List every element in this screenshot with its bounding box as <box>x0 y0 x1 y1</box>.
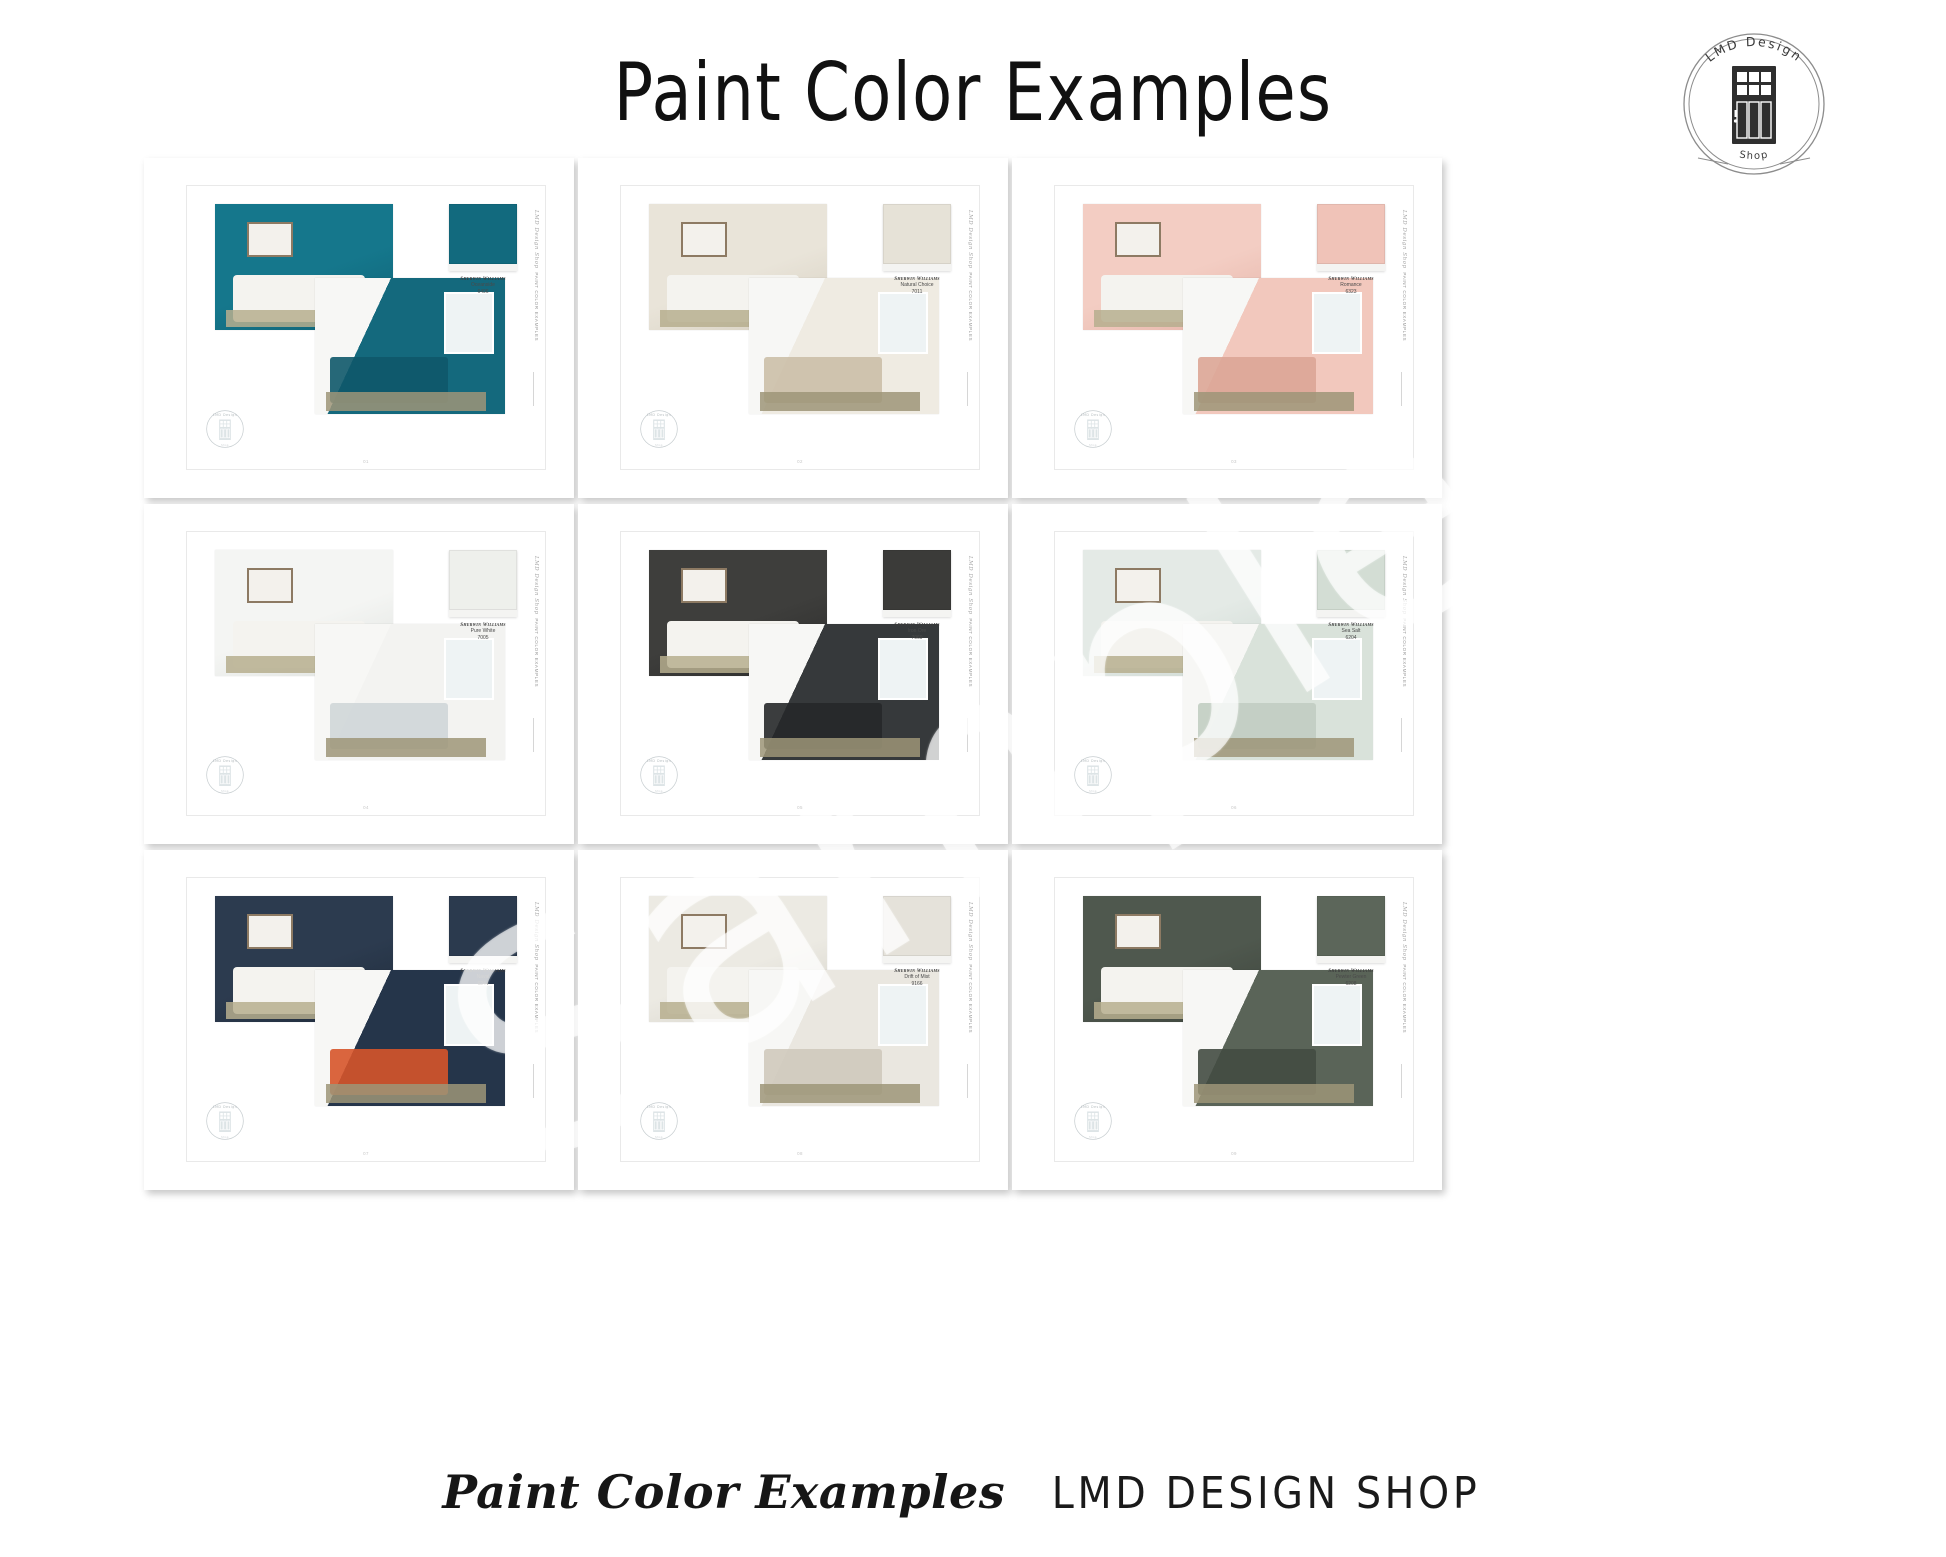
paint-swatch: Sherwin Williams Naval 6244 <box>447 896 519 988</box>
paint-card-grid: Sherwin Williams Oceanside 6496 LMD Desi… <box>144 158 1804 1190</box>
svg-text:LMD Design: LMD Design <box>1081 759 1105 763</box>
card-page-number: 02 <box>797 459 803 464</box>
svg-text:LMD Design: LMD Design <box>213 413 237 417</box>
card-side-text: LMD Design Shop PAINT COLOR EXAMPLES <box>1395 902 1407 1052</box>
swatch-color-chip <box>1317 896 1385 956</box>
svg-text:LMD Design: LMD Design <box>647 413 671 417</box>
swatch-color-chip <box>883 204 951 264</box>
card-lmd-logo: LMD Design Shop <box>1071 407 1115 451</box>
swatch-color-name: Natural Choice <box>881 282 953 289</box>
footer-brand-text: LMD DESIGN SHOP <box>1051 1468 1479 1519</box>
dark-cabinet-laundry-room <box>749 624 939 760</box>
svg-text:Shop: Shop <box>655 443 663 447</box>
logo-top-text: LMD Design <box>1702 34 1805 65</box>
card-page-number: 07 <box>363 1151 369 1156</box>
card-lmd-logo: LMD Design Shop <box>637 1099 681 1143</box>
card-lmd-logo: LMD Design Shop <box>637 407 681 451</box>
swatch-color-code: 6244 <box>447 981 519 988</box>
card-side-text: LMD Design Shop PAINT COLOR EXAMPLES <box>961 902 973 1052</box>
swatch-color-chip <box>883 550 951 610</box>
svg-text:LMD Design: LMD Design <box>647 1105 671 1109</box>
navy-living-room-with-orange-chairs <box>315 970 505 1106</box>
swatch-color-chip <box>1317 204 1385 264</box>
svg-text:Shop: Shop <box>221 443 229 447</box>
svg-text:LMD Design: LMD Design <box>1081 413 1105 417</box>
sage-living-room-with-fireplace-built-ins <box>1183 624 1373 760</box>
swatch-color-name: Romance <box>1315 282 1387 289</box>
card-inner-frame: Sherwin Williams Oceanside 6496 LMD Desi… <box>186 185 546 470</box>
card-page-number: 04 <box>363 805 369 810</box>
card-inner-frame: Sherwin Williams Iron Ore 7069 LMD Desig… <box>620 531 980 816</box>
swatch-color-name: Naval <box>447 974 519 981</box>
svg-text:Shop: Shop <box>1089 443 1097 447</box>
card-page-number: 08 <box>797 1151 803 1156</box>
card-side-text: LMD Design Shop PAINT COLOR EXAMPLES <box>527 556 539 706</box>
swatch-color-code: 7011 <box>881 289 953 296</box>
svg-text:LMD Design: LMD Design <box>213 759 237 763</box>
page-title: Paint Color Examples <box>175 46 1771 139</box>
swatch-color-code: 6208 <box>1315 981 1387 988</box>
paint-card[interactable]: Sherwin Williams Pewter Green 6208 LMD D… <box>1012 850 1442 1190</box>
swatch-color-code: 9166 <box>881 981 953 988</box>
card-side-text: LMD Design Shop PAINT COLOR EXAMPLES <box>1395 556 1407 706</box>
svg-text:LMD Design: LMD Design <box>647 759 671 763</box>
card-inner-frame: Sherwin Williams Sea Salt 6204 LMD Desig… <box>1054 531 1414 816</box>
paint-card[interactable]: Sherwin Williams Drift of Mist 9166 LMD … <box>578 850 1008 1190</box>
card-side-text: LMD Design Shop PAINT COLOR EXAMPLES <box>527 902 539 1052</box>
card-page-number: 05 <box>797 805 803 810</box>
paint-swatch: Sherwin Williams Romance 6323 <box>1315 204 1387 296</box>
swatch-color-code: 6323 <box>1315 289 1387 296</box>
card-lmd-logo: LMD Design Shop <box>203 407 247 451</box>
card-inner-frame: Sherwin Williams Naval 6244 LMD Design S… <box>186 877 546 1162</box>
footer: Paint Color Examples LMD DESIGN SHOP <box>0 1465 1946 1519</box>
swatch-card-base <box>883 956 951 963</box>
white-entryway-with-front-door <box>749 278 939 414</box>
paint-swatch: Sherwin Williams Natural Choice 7011 <box>881 204 953 296</box>
card-page-number: 03 <box>1231 459 1237 464</box>
svg-text:Shop: Shop <box>1089 789 1097 793</box>
card-side-rule <box>967 1064 968 1098</box>
paint-swatch: Sherwin Williams Iron Ore 7069 <box>881 550 953 642</box>
card-side-text: LMD Design Shop PAINT COLOR EXAMPLES <box>961 556 973 706</box>
swatch-card-base <box>1317 264 1385 271</box>
paint-swatch: Sherwin Williams Oceanside 6496 <box>447 204 519 296</box>
swatch-card-base <box>1317 610 1385 617</box>
card-side-rule <box>967 718 968 752</box>
paint-card[interactable]: Sherwin Williams Naval 6244 LMD Design S… <box>144 850 574 1190</box>
greige-sitting-room-with-chaise <box>749 970 939 1106</box>
card-lmd-logo: LMD Design Shop <box>637 753 681 797</box>
card-side-rule <box>1401 718 1402 752</box>
card-lmd-logo: LMD Design Shop <box>203 753 247 797</box>
svg-text:Shop: Shop <box>221 1135 229 1139</box>
paint-swatch: Sherwin Williams Drift of Mist 9166 <box>881 896 953 988</box>
card-side-rule <box>533 1064 534 1098</box>
paint-card[interactable]: Sherwin Williams Natural Choice 7011 LMD… <box>578 158 1008 498</box>
swatch-color-chip <box>1317 550 1385 610</box>
swatch-color-code: 6496 <box>447 289 519 296</box>
swatch-color-code: 6204 <box>1315 635 1387 642</box>
swatch-card-base <box>1317 956 1385 963</box>
svg-text:Shop: Shop <box>655 789 663 793</box>
card-side-text: LMD Design Shop PAINT COLOR EXAMPLES <box>527 210 539 360</box>
footer-script-text: Paint Color Examples <box>442 1465 1005 1519</box>
swatch-color-chip <box>449 550 517 610</box>
svg-text:LMD Design: LMD Design <box>1702 34 1805 65</box>
svg-text:Shop: Shop <box>655 1135 663 1139</box>
swatch-color-chip <box>449 204 517 264</box>
card-page-number: 01 <box>363 459 369 464</box>
card-side-text: LMD Design Shop PAINT COLOR EXAMPLES <box>961 210 973 360</box>
paint-swatch: Sherwin Williams Pure White 7005 <box>447 550 519 642</box>
paint-swatch: Sherwin Williams Pewter Green 6208 <box>1315 896 1387 988</box>
swatch-card-base <box>449 956 517 963</box>
swatch-color-name: Pure White <box>447 628 519 635</box>
swatch-color-name: Pewter Green <box>1315 974 1387 981</box>
white-bedroom-with-nightstand <box>315 624 505 760</box>
svg-text:Shop: Shop <box>221 789 229 793</box>
card-inner-frame: Sherwin Williams Drift of Mist 9166 LMD … <box>620 877 980 1162</box>
card-inner-frame: Sherwin Williams Pewter Green 6208 LMD D… <box>1054 877 1414 1162</box>
card-lmd-logo: LMD Design Shop <box>1071 753 1115 797</box>
paint-card[interactable]: Sherwin Williams Pure White 7005 LMD Des… <box>144 504 574 844</box>
paint-card[interactable]: Sherwin Williams Sea Salt 6204 LMD Desig… <box>1012 504 1442 844</box>
card-side-rule <box>533 372 534 406</box>
swatch-card-base <box>883 264 951 271</box>
swatch-card-base <box>449 610 517 617</box>
swatch-color-name: Sea Salt <box>1315 628 1387 635</box>
paint-card[interactable]: Sherwin Williams Oceanside 6496 LMD Desi… <box>144 158 574 498</box>
card-side-text: LMD Design Shop PAINT COLOR EXAMPLES <box>1395 210 1407 360</box>
svg-text:LMD Design: LMD Design <box>1081 1105 1105 1109</box>
card-side-rule <box>533 718 534 752</box>
swatch-color-chip <box>449 896 517 956</box>
card-side-rule <box>967 372 968 406</box>
card-page-number: 09 <box>1231 1151 1237 1156</box>
swatch-color-chip <box>883 896 951 956</box>
svg-text:Shop: Shop <box>1089 1135 1097 1139</box>
card-side-rule <box>1401 372 1402 406</box>
green-kitchen-with-island-and-stools <box>1183 970 1373 1106</box>
teal-bedroom-with-macrame-headboard <box>315 278 505 414</box>
card-inner-frame: Sherwin Williams Romance 6323 LMD Design… <box>1054 185 1414 470</box>
swatch-card-base <box>449 264 517 271</box>
svg-text:LMD Design: LMD Design <box>213 1105 237 1109</box>
card-side-rule <box>1401 1064 1402 1098</box>
card-lmd-logo: LMD Design Shop <box>1071 1099 1115 1143</box>
swatch-color-code: 7005 <box>447 635 519 642</box>
swatch-color-code: 7069 <box>881 635 953 642</box>
paint-swatch: Sherwin Williams Sea Salt 6204 <box>1315 550 1387 642</box>
swatch-color-name: Oceanside <box>447 282 519 289</box>
swatch-color-name: Iron Ore <box>881 628 953 635</box>
card-inner-frame: Sherwin Williams Pure White 7005 LMD Des… <box>186 531 546 816</box>
paint-card[interactable]: Sherwin Williams Romance 6323 LMD Design… <box>1012 158 1442 498</box>
card-lmd-logo: LMD Design Shop <box>203 1099 247 1143</box>
swatch-color-name: Drift of Mist <box>881 974 953 981</box>
paint-card[interactable]: Sherwin Williams Iron Ore 7069 LMD Desig… <box>578 504 1008 844</box>
pink-kitchen-with-cabinets <box>1183 278 1373 414</box>
card-inner-frame: Sherwin Williams Natural Choice 7011 LMD… <box>620 185 980 470</box>
card-page-number: 06 <box>1231 805 1237 810</box>
swatch-card-base <box>883 610 951 617</box>
